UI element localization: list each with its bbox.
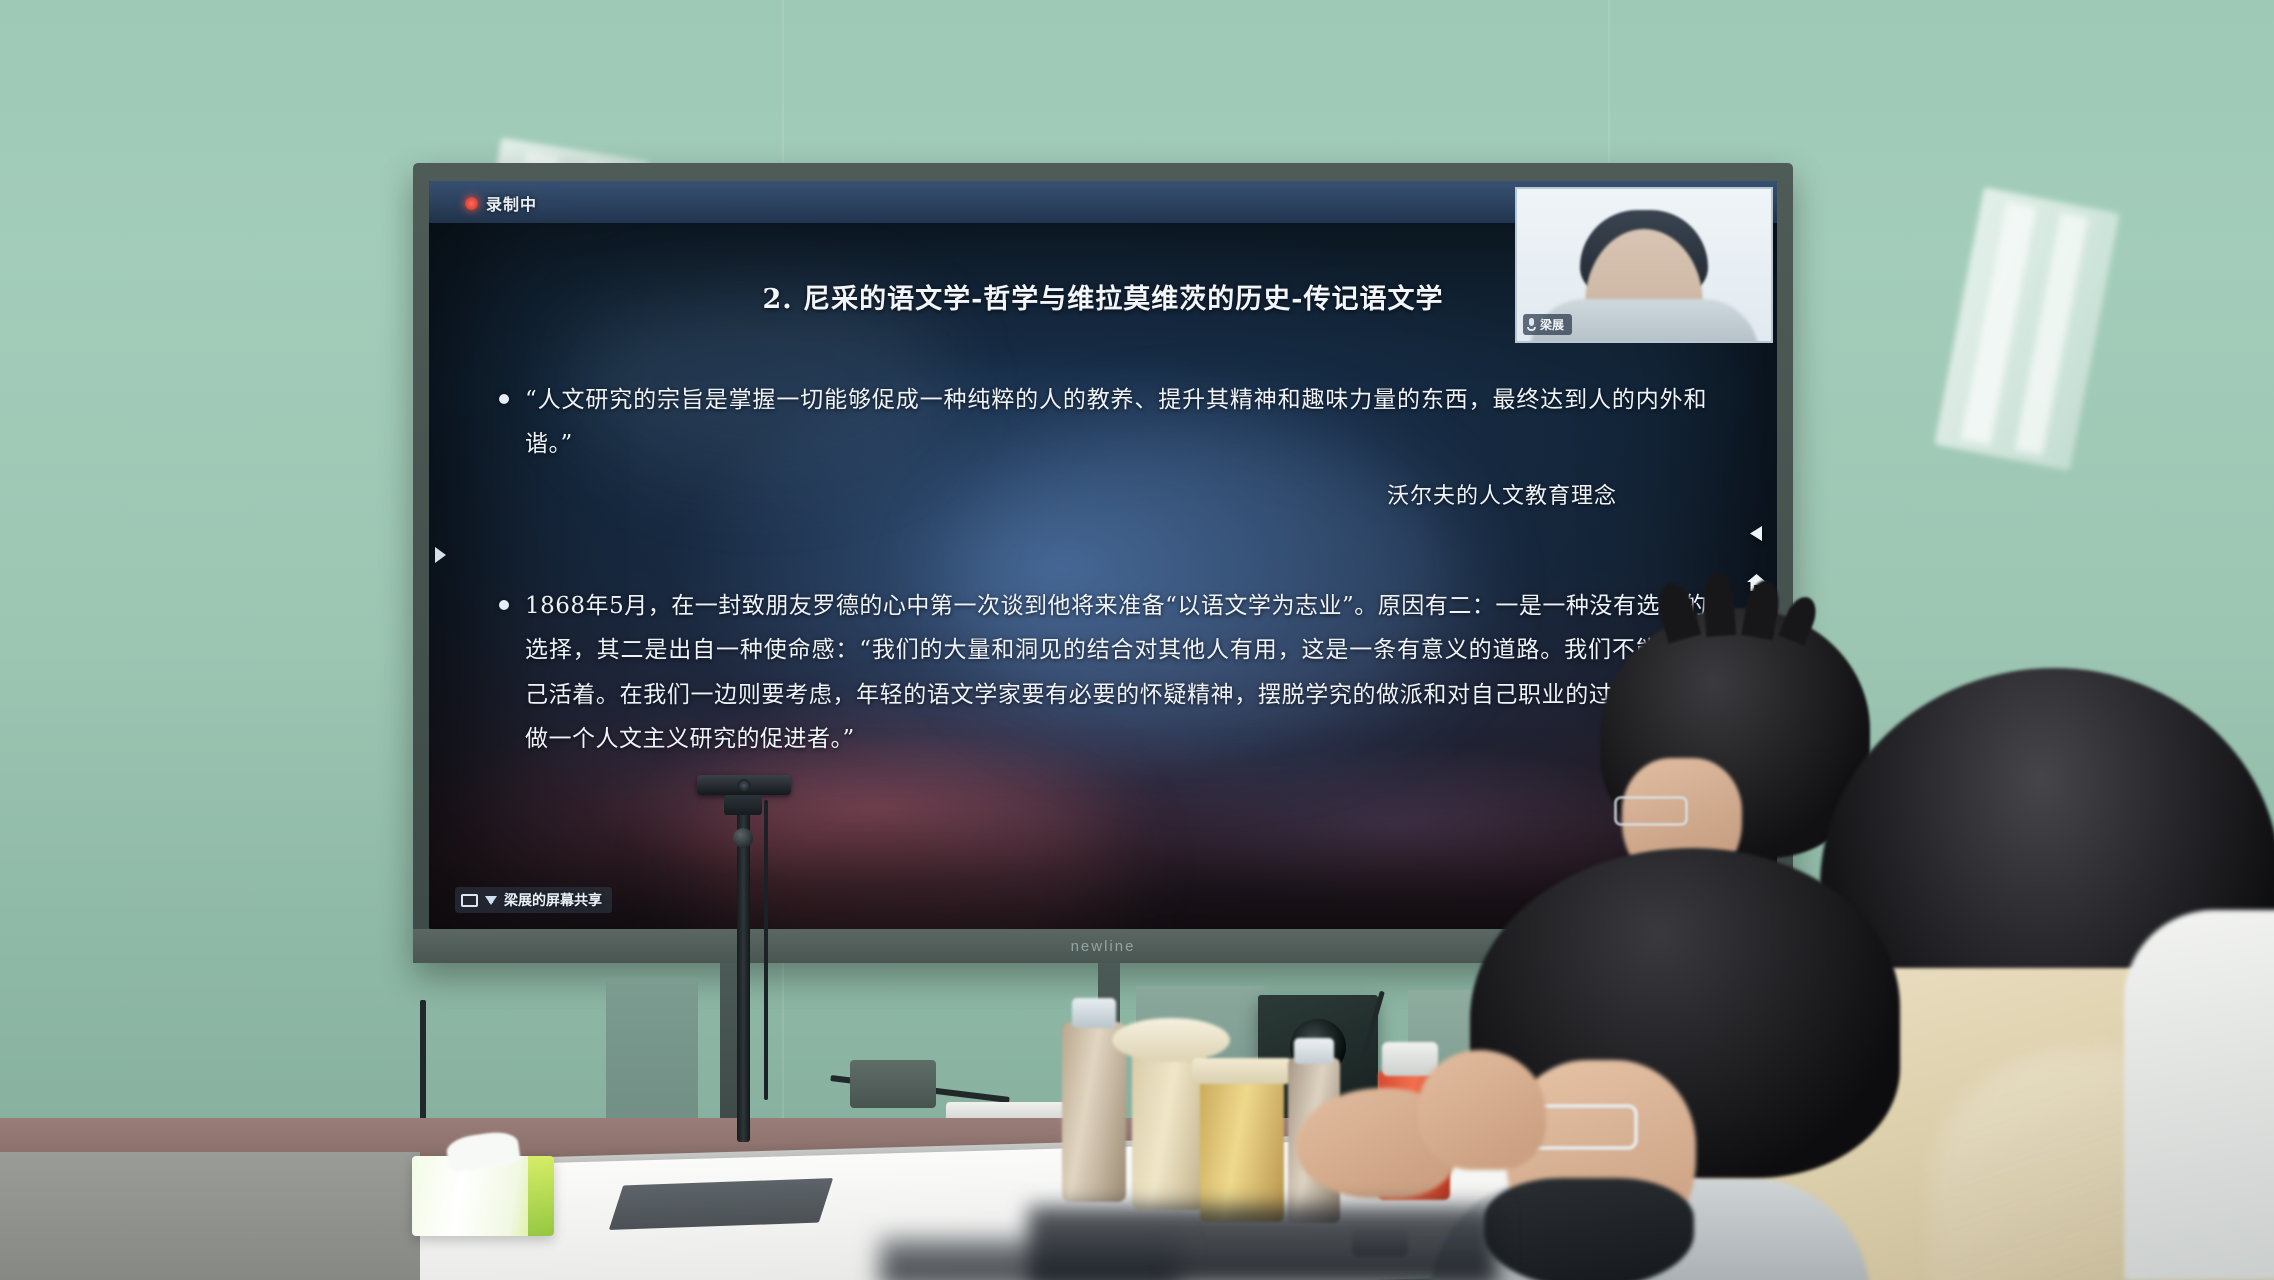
bullet-item: “人文研究的宗旨是掌握一切能够促成一种纯粹的人的教养、提升其精神和趣味力量的东西… <box>499 378 1707 466</box>
audience-person <box>2124 910 2274 1280</box>
power-adapter <box>850 1060 936 1108</box>
tripod-adjust-knob[interactable] <box>733 828 753 848</box>
bullet-attribution: 沃尔夫的人文教育理念 <box>499 478 1617 510</box>
download-arrow-icon <box>485 896 497 905</box>
interactive-display[interactable]: 录制中 梁展 2. 尼采的语文学-哲学与维拉莫维茨的历史-传记语文学 “人文研究 <box>413 163 1793 963</box>
audience-person <box>1470 848 1900 1280</box>
face-mask <box>1484 1178 1694 1280</box>
bullet-dot-icon <box>499 394 509 404</box>
thermos-lid <box>1112 1018 1230 1062</box>
tissue-box[interactable] <box>412 1156 554 1236</box>
mousepad <box>609 1178 833 1230</box>
bullet-item: 1868年5月，在一封致朋友罗德的心中第一次谈到他将来准备“以语文学为志业”。原… <box>499 584 1707 761</box>
bottle-cap <box>1072 998 1116 1028</box>
screen-share-indicator: 梁展的屏幕共享 <box>455 887 612 913</box>
hand <box>1418 1050 1546 1170</box>
camera-lens-icon <box>738 779 751 792</box>
slide-content: 2. 尼采的语文学-哲学与维拉莫维茨的历史-传记语文学 “人文研究的宗旨是掌握一… <box>429 181 1777 929</box>
slide-title: 2. 尼采的语文学-哲学与维拉莫维茨的历史-传记语文学 <box>499 277 1707 316</box>
webcam-device <box>697 775 791 795</box>
bullet-text: “人文研究的宗旨是掌握一切能够促成一种纯粹的人的教养、提升其精神和趣味力量的东西… <box>525 378 1707 466</box>
back-triangle-icon[interactable] <box>1749 525 1764 547</box>
red-cup-cap <box>1382 1042 1438 1076</box>
display-brand-label: newline <box>1071 938 1136 955</box>
desk-side-panel <box>0 1152 420 1280</box>
eyeglasses <box>1614 796 1688 826</box>
torso <box>2124 910 2274 1280</box>
slide-prev-arrow-icon[interactable] <box>435 547 446 563</box>
cup-lid <box>1192 1058 1292 1084</box>
tea-cup[interactable] <box>1200 1072 1284 1222</box>
camera-cable <box>764 800 768 1100</box>
screen-share-label: 梁展的屏幕共享 <box>504 890 602 910</box>
camera-tripod-pole <box>737 812 750 1142</box>
monitor-icon <box>461 894 478 907</box>
bottle-cap <box>1294 1038 1334 1064</box>
display-screen[interactable]: 录制中 梁展 2. 尼采的语文学-哲学与维拉莫维茨的历史-传记语文学 “人文研究 <box>429 181 1777 929</box>
webcam-mount <box>724 795 762 815</box>
bullet-dot-icon <box>499 600 509 610</box>
classroom-scene: 录制中 梁展 2. 尼采的语文学-哲学与维拉莫维茨的历史-传记语文学 “人文研究 <box>0 0 2274 1280</box>
foreground-blur <box>880 1238 1180 1280</box>
bullet-text: 1868年5月，在一封致朋友罗德的心中第一次谈到他将来准备“以语文学为志业”。原… <box>525 584 1707 761</box>
